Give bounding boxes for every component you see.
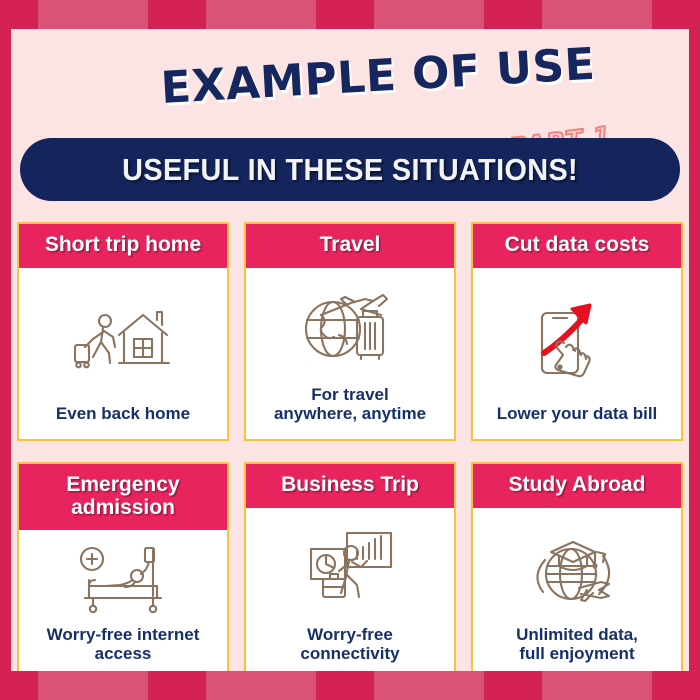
top-stripe-border <box>0 0 700 29</box>
situation-card-grid: Short trip home <box>17 222 683 671</box>
card-caption: Worry-free internet access <box>47 625 200 669</box>
card-title: Study Abroad <box>473 464 681 508</box>
card-body: Unlimited data, full enjoyment <box>473 508 681 671</box>
card-title: Short trip home <box>19 224 227 268</box>
globe-airplane-suitcase-icon <box>252 272 448 385</box>
situation-card[interactable]: Cut data costs <box>471 222 683 441</box>
poster-root: EXAMPLE OF USE PART 1 USEFUL IN THESE SI… <box>0 0 700 700</box>
card-body: Worry-free connectivity <box>246 508 454 671</box>
card-caption: Even back home <box>56 404 190 429</box>
card-body: Lower your data bill <box>473 268 681 439</box>
card-body: Even back home <box>19 268 227 439</box>
situation-card[interactable]: Emergency admission <box>17 462 229 671</box>
situation-card[interactable]: Travel <box>244 222 456 441</box>
card-title: Travel <box>246 224 454 268</box>
banner-label: USEFUL IN THESE SITUATIONS! <box>122 152 578 188</box>
card-caption: Worry-free connectivity <box>300 625 399 669</box>
card-title: Business Trip <box>246 464 454 508</box>
card-body: For travel anywhere, anytime <box>246 268 454 439</box>
smartphone-hand-red-arrow-icon <box>479 272 675 404</box>
headline-area: EXAMPLE OF USE PART 1 <box>11 47 689 147</box>
card-caption: Lower your data bill <box>497 404 658 429</box>
bottom-stripe-border <box>0 671 700 700</box>
situations-banner: USEFUL IN THESE SITUATIONS! <box>20 138 680 201</box>
card-caption: Unlimited data, full enjoyment <box>516 625 638 669</box>
situation-card[interactable]: Short trip home <box>17 222 229 441</box>
businessman-briefcase-charts-icon <box>252 512 448 625</box>
situation-card[interactable]: Business Trip <box>244 462 456 671</box>
page-title: EXAMPLE OF USE <box>160 39 597 114</box>
globe-graduation-cap-airplane-icon <box>479 512 675 625</box>
card-caption: For travel anywhere, anytime <box>274 385 426 429</box>
card-body: Worry-free internet access <box>19 530 227 671</box>
hospital-bed-patient-icon <box>25 534 221 625</box>
situation-card[interactable]: Study Abroad <box>471 462 683 671</box>
poster-canvas: EXAMPLE OF USE PART 1 USEFUL IN THESE SI… <box>11 29 689 671</box>
card-title: Cut data costs <box>473 224 681 268</box>
card-title: Emergency admission <box>19 464 227 530</box>
traveler-with-suitcase-and-house-icon <box>25 272 221 404</box>
